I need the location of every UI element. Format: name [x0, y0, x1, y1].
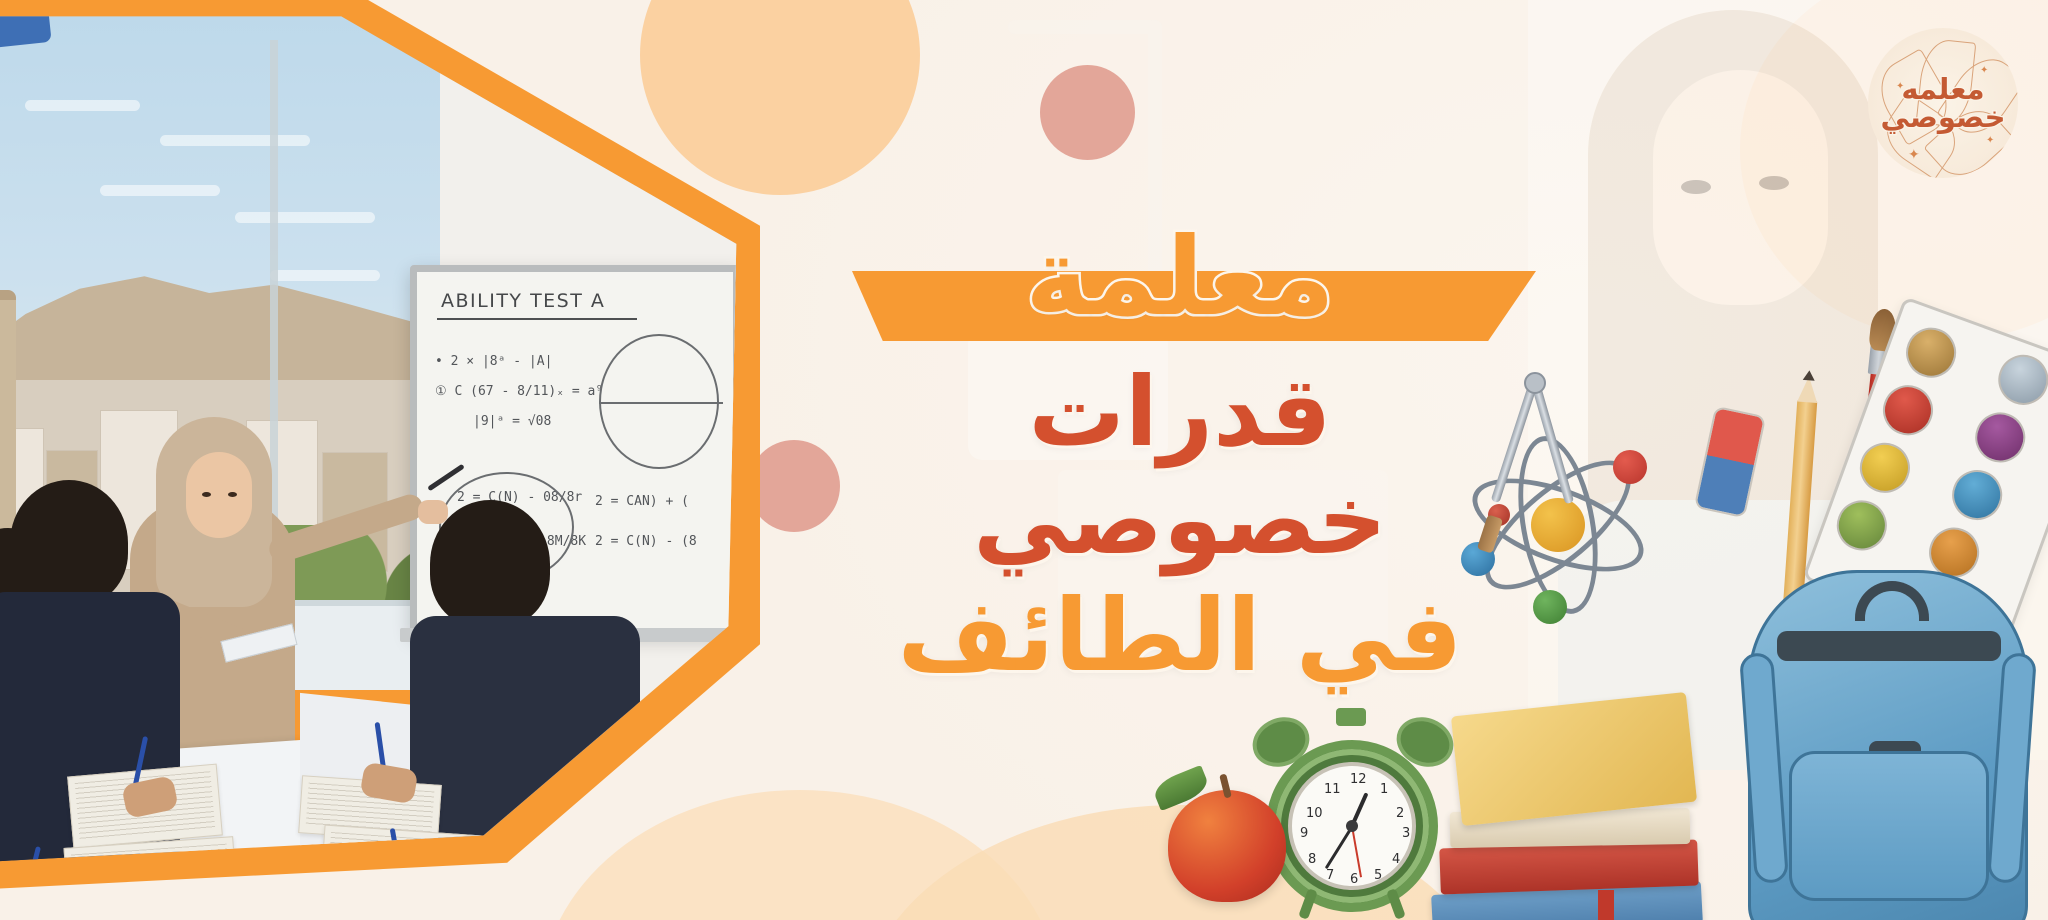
desk-lamp-arm-horizontal — [1008, 20, 1158, 34]
teacher-eye-left — [202, 492, 211, 497]
clock-number: 8 — [1308, 852, 1316, 867]
alarm-clock-icon: 12 1 2 3 4 5 6 7 8 9 10 11 — [1258, 720, 1448, 910]
compass-leg-left — [1530, 379, 1574, 505]
clock-minute-hand — [1324, 825, 1353, 869]
clock-number: 2 — [1396, 806, 1404, 821]
clock-number: 12 — [1350, 772, 1367, 787]
whiteboard-equation: ① C (67 - 8/11)ₓ = a⁹ — [435, 384, 603, 399]
backpack-front-pocket — [1789, 751, 1989, 901]
student-head — [430, 500, 550, 628]
cloud — [270, 270, 380, 281]
paint-pan-green — [1830, 493, 1894, 557]
paint-pan-red — [1876, 378, 1940, 442]
whiteboard-title-underline — [437, 318, 637, 320]
teacher-hand — [418, 500, 448, 524]
bookmark-ribbon — [1598, 890, 1614, 920]
clock-second-hand — [1351, 826, 1362, 878]
paint-pan-blue — [1945, 463, 2009, 527]
logo-text-line-2: خصوصي — [1880, 100, 2005, 134]
alarm-clock-button — [1336, 708, 1366, 726]
clock-number: 1 — [1380, 782, 1388, 797]
cloud — [100, 185, 220, 196]
paint-pan-white — [1991, 348, 2048, 412]
compass-hinge — [1524, 372, 1546, 394]
teacher-eye-right — [228, 492, 237, 497]
clock-number: 3 — [1402, 826, 1410, 841]
backpack-strap-left — [1739, 652, 1789, 884]
school-supplies-illustration: 12 1 2 3 4 5 6 7 8 9 10 11 — [1288, 280, 2048, 920]
cloud — [160, 135, 310, 146]
cloud — [235, 212, 375, 223]
atom-electron-green — [1533, 590, 1567, 624]
promo-banner: ABILITY TEST A • 2 × |8ᵃ - |A| ① C (67 -… — [0, 0, 2048, 920]
paint-pan-yellow — [1853, 436, 1917, 500]
whiteboard-equation: 2 = CAN) + ( — [595, 494, 689, 509]
classroom-photo: ABILITY TEST A • 2 × |8ᵃ - |A| ① C (67 -… — [0, 0, 760, 890]
alarm-clock-leg-left — [1298, 888, 1318, 920]
logo-wordmark: معلمه خصوصي — [1868, 28, 2018, 178]
whiteboard-equation: • 2 × |8ᵃ - |A| — [435, 354, 552, 369]
decor-circle-peach-top-center — [640, 0, 920, 195]
alarm-clock-leg-right — [1386, 888, 1406, 920]
clock-number: 11 — [1324, 782, 1341, 797]
whiteboard-sphere-diagram — [599, 334, 719, 469]
alarm-clock-face: 12 1 2 3 4 5 6 7 8 9 10 11 — [1288, 762, 1416, 890]
compass-icon — [1468, 380, 1608, 520]
teacher-face — [186, 452, 252, 538]
decor-circle-rose-middle — [748, 440, 840, 532]
backpack-top-band — [1777, 631, 2001, 661]
backpack-handle — [1855, 581, 1929, 621]
compass-leg-right — [1491, 379, 1539, 504]
clock-number: 6 — [1350, 872, 1358, 887]
book-yellow — [1451, 692, 1697, 826]
clock-number: 9 — [1300, 826, 1308, 841]
clock-number: 10 — [1306, 806, 1323, 821]
whiteboard-title: ABILITY TEST A — [441, 290, 605, 312]
atom-electron-red — [1613, 450, 1647, 484]
decor-circle-rose-top — [1040, 65, 1135, 160]
clock-center-pivot — [1346, 820, 1358, 832]
clock-number: 5 — [1374, 868, 1382, 883]
cloud — [25, 100, 140, 111]
backpack-icon — [1748, 570, 2028, 920]
book-red — [1439, 840, 1698, 895]
whiteboard-equation: 2 = C(N) - (8 — [595, 534, 697, 549]
backpack-strap-right — [1987, 652, 2037, 884]
brand-logo[interactable]: ✦ ✦ ✦ ✦ معلمه خصوصي — [1868, 28, 2018, 178]
whiteboard-equation: |9|ᵃ = √08 — [473, 414, 551, 429]
girl-eye-left — [1681, 180, 1711, 194]
clock-number: 4 — [1392, 852, 1400, 867]
books-icon — [1428, 700, 1728, 920]
girl-face — [1653, 70, 1828, 305]
student-head — [10, 480, 128, 606]
apple-stem — [1219, 774, 1232, 799]
girl-eye-right — [1759, 176, 1789, 190]
clock-number: 7 — [1326, 868, 1334, 883]
paint-pan-gold — [1899, 321, 1963, 385]
apple-icon — [1168, 790, 1286, 902]
paint-pan-purple — [1968, 405, 2032, 469]
eraser-icon — [1694, 406, 1766, 519]
minaret-tower — [0, 290, 16, 540]
